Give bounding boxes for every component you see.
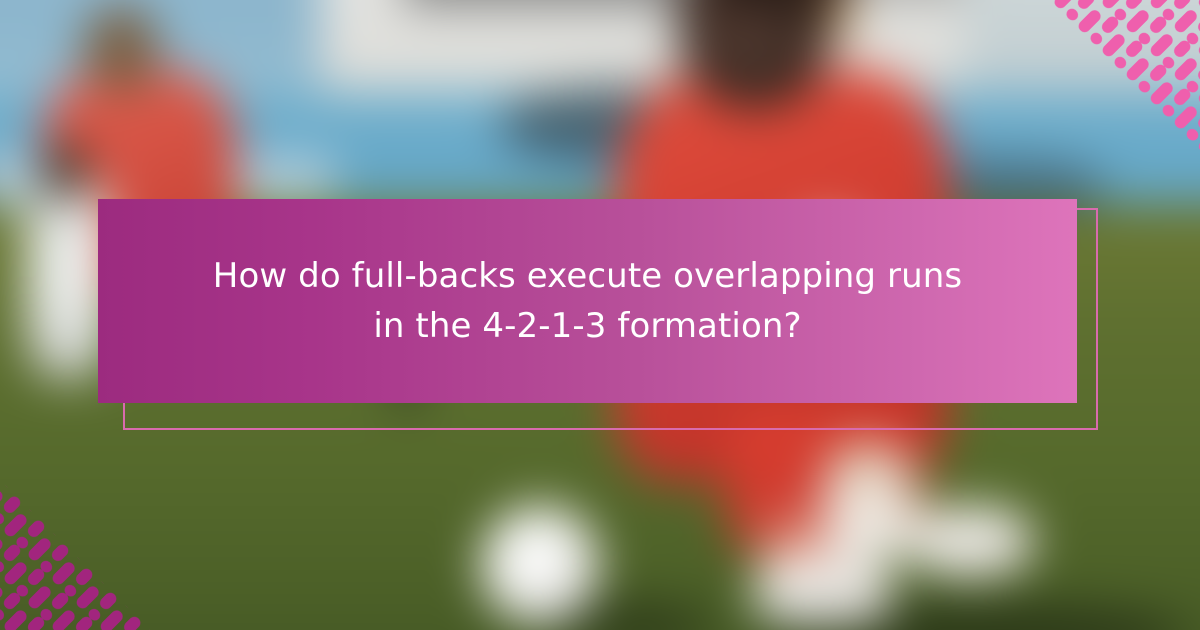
soccer-ball xyxy=(481,506,600,625)
page-title: How do full-backs execute overlapping ru… xyxy=(193,251,983,352)
background-player-head xyxy=(82,5,159,92)
title-banner: How do full-backs execute overlapping ru… xyxy=(98,199,1077,403)
share-card: How do full-backs execute overlapping ru… xyxy=(0,0,1200,630)
player-sock xyxy=(824,442,915,561)
player-boot-back xyxy=(908,506,1034,578)
player-boot-front xyxy=(754,554,894,626)
sideline-person-head xyxy=(40,140,89,204)
